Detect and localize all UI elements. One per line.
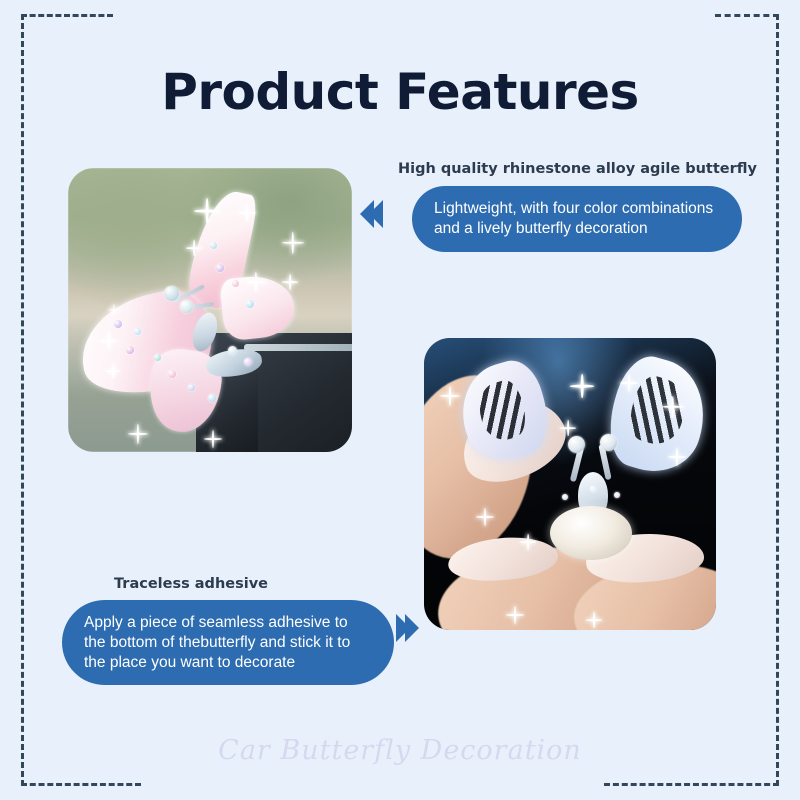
feature-body-adhesive: Apply a piece of seamless adhesive to th… <box>62 600 394 685</box>
dashboard-trim-edge <box>244 344 352 351</box>
rhinestone <box>562 494 568 500</box>
feature-heading-quality: High quality rhinestone alloy agile butt… <box>398 161 757 177</box>
butterfly-antenna-bead-left <box>164 286 179 301</box>
feature-heading-adhesive: Traceless adhesive <box>114 576 268 592</box>
rhinestone <box>244 358 252 366</box>
butterfly-antenna-bead-right <box>600 434 617 451</box>
rhinestone <box>188 384 195 391</box>
rhinestone <box>168 370 176 378</box>
page-title: Product Features <box>0 63 800 121</box>
chevrons-left-icon <box>360 200 383 228</box>
rhinestone <box>126 346 134 354</box>
chevron-right-icon <box>405 614 419 642</box>
rhinestone <box>216 264 224 272</box>
rhinestone <box>134 328 141 335</box>
butterfly-antenna-bead-left <box>568 436 585 453</box>
feature-body-quality: Lightweight, with four color combination… <box>412 186 742 252</box>
frame-line-bottom-right <box>604 783 779 786</box>
rhinestone <box>154 354 161 361</box>
butterfly-antenna-bead-right <box>180 300 193 313</box>
chevron-left-icon <box>369 200 383 228</box>
frame-line-bottom-left <box>21 783 141 786</box>
frame-line-left <box>21 14 24 786</box>
rhinestone <box>228 346 237 355</box>
rhinestone <box>614 492 620 498</box>
adhesive-base-disc <box>550 506 632 560</box>
rhinestone <box>590 486 596 492</box>
frame-line-top-left <box>21 14 113 17</box>
chevrons-right-icon <box>396 614 419 642</box>
rhinestone <box>246 300 254 308</box>
rhinestone <box>232 280 239 287</box>
rhinestone <box>208 394 216 402</box>
photo-butterfly-on-dashboard <box>68 168 352 452</box>
photo-butterfly-in-hand <box>424 338 716 630</box>
rhinestone <box>210 242 217 249</box>
frame-line-right <box>776 14 779 786</box>
frame-line-top-right <box>715 14 779 17</box>
rhinestone <box>114 320 122 328</box>
watermark: Car Butterfly Decoration <box>0 735 800 766</box>
